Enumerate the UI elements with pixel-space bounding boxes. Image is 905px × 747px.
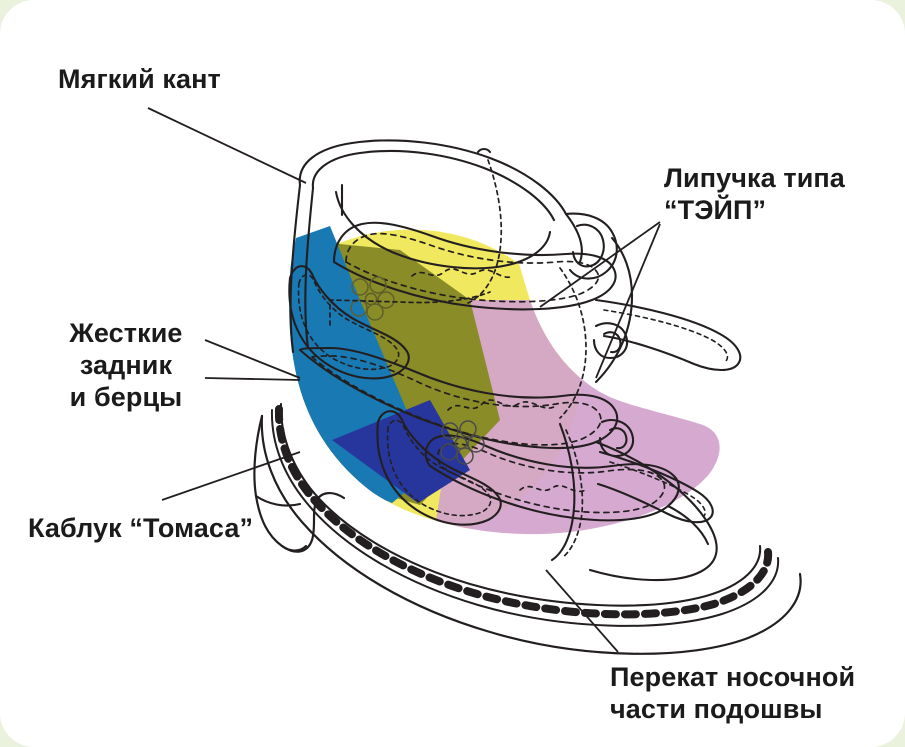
callout-label-soft-collar: Мягкий кант — [58, 64, 221, 96]
callout-label-velcro-tape: Липучка типа “ТЭЙП” — [664, 163, 845, 227]
illustration-stage: Мягкий кант Липучка типа “ТЭЙП” Жесткие … — [0, 0, 905, 747]
upper-buckle-keeper-inner — [604, 332, 620, 352]
leader-kabluk — [162, 452, 300, 500]
figure-card: Мягкий кант Липучка типа “ТЭЙП” Жесткие … — [0, 0, 905, 747]
thomas-heel-extension — [256, 496, 300, 506]
leader-zadnik-2 — [205, 378, 300, 380]
collar-top-notch — [478, 149, 490, 152]
leader-zadnik — [205, 340, 300, 378]
callout-label-thomas-heel: Каблук “Томаса” — [28, 513, 253, 545]
thomas-heel-step — [282, 546, 306, 551]
toe-upper-edge — [668, 506, 708, 544]
collar-inner-edge — [313, 151, 554, 220]
callout-label-stiff-heel-quarters: Жесткие задник и берцы — [46, 318, 206, 414]
leader-kant — [148, 108, 306, 183]
callout-label-toe-roll: Перекат носочной части подошвы — [610, 662, 855, 726]
